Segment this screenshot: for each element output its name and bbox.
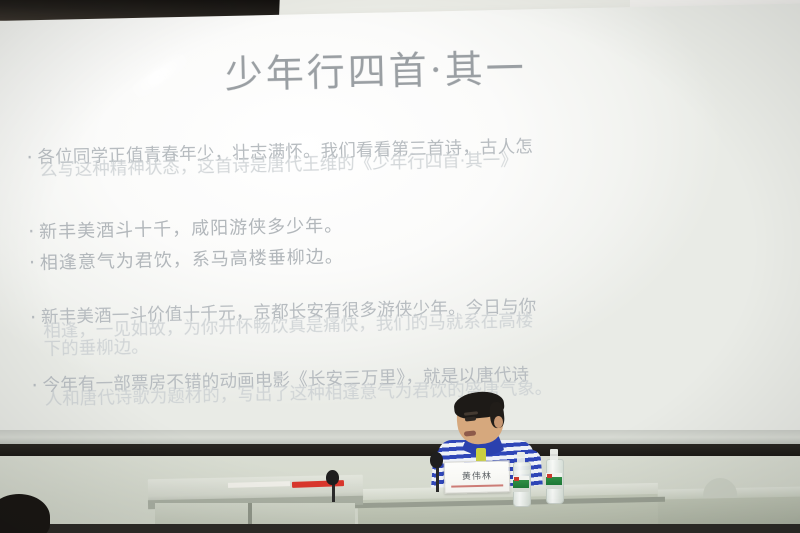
bottle-label-accent [514,477,519,481]
speaker-ear [494,416,503,428]
desk-microphone-icon [430,452,443,468]
projection-screen [0,2,800,461]
bottle-label-accent [547,474,552,478]
lecture-photo-scene: 少年行四首·其一 各位同学正值青春年少，壮志满怀。我们看看第三首诗，古人怎 么写… [0,0,800,533]
name-card-text: 黄伟林 [462,468,492,482]
name-card: 黄伟林 [444,460,511,494]
bottle-neck [550,453,558,460]
bottle-cap [517,452,525,457]
name-card-red-rule [451,484,503,487]
podium-microphone-icon [326,470,339,485]
bottle-cap [550,449,558,454]
floor-shadow [0,524,800,533]
bottle-neck [517,456,525,463]
